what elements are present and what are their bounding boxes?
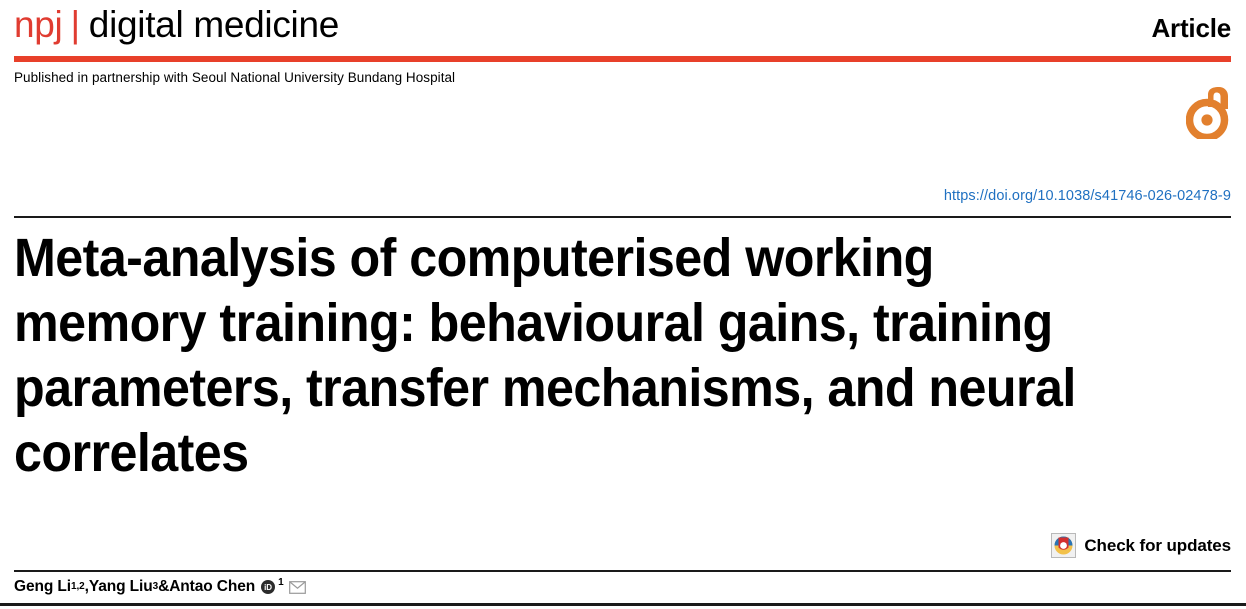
- author-list: Geng Li1,2, Yang Liu3 & Antao Chen iD 1: [14, 578, 306, 596]
- check-for-updates[interactable]: Check for updates: [1051, 533, 1231, 558]
- author-name-2[interactable]: Yang Liu: [89, 578, 153, 596]
- article-title: Meta-analysis of computerised working me…: [14, 226, 1121, 486]
- article-type-label: Article: [1151, 13, 1231, 44]
- footer-rule: [0, 603, 1246, 606]
- journal-logo-title: digital medicine: [89, 6, 339, 43]
- title-top-rule: [14, 216, 1231, 218]
- author-name-1[interactable]: Geng Li: [14, 578, 71, 596]
- journal-logo-separator: |: [70, 6, 79, 43]
- open-access-unlock-icon: [1186, 87, 1230, 139]
- author-name-3[interactable]: Antao Chen: [169, 578, 255, 596]
- envelope-icon[interactable]: [289, 581, 306, 594]
- svg-text:iD: iD: [264, 583, 272, 592]
- journal-article-header: npj | digital medicine Article Published…: [0, 0, 1246, 609]
- journal-logo[interactable]: npj | digital medicine: [14, 6, 339, 43]
- authors-top-rule: [14, 570, 1231, 572]
- journal-logo-npj: npj: [14, 6, 62, 43]
- masthead-red-rule: [14, 56, 1231, 62]
- orcid-icon[interactable]: iD: [261, 580, 275, 594]
- masthead: npj | digital medicine Article: [14, 6, 1231, 56]
- partnership-statement: Published in partnership with Seoul Nati…: [14, 70, 455, 85]
- check-for-updates-label: Check for updates: [1084, 536, 1231, 556]
- doi-link[interactable]: https://doi.org/10.1038/s41746-026-02478…: [944, 188, 1231, 204]
- crossmark-icon: [1051, 533, 1076, 558]
- author-separator-2: &: [158, 578, 169, 596]
